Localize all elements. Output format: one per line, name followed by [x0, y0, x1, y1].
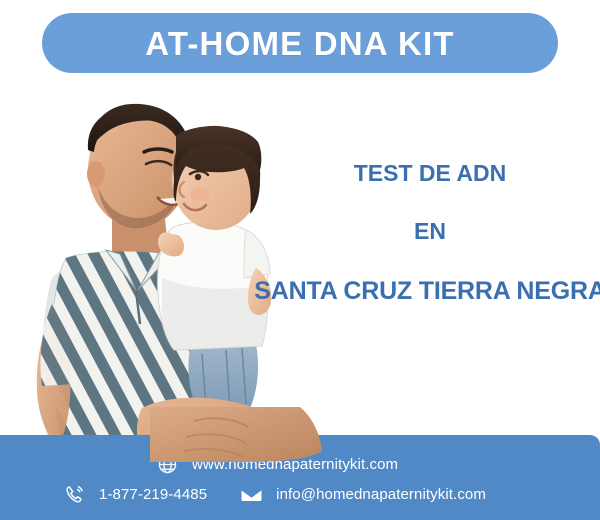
email-label: info@homednapaternitykit.com [276, 486, 486, 503]
phone-label: 1-877-219-4485 [99, 486, 207, 503]
contact-website[interactable]: www.homednapaternitykit.com [155, 452, 398, 476]
contact-phone[interactable]: 1-877-219-4485 [62, 482, 207, 506]
contact-email[interactable]: info@homednapaternitykit.com [239, 482, 486, 506]
header-band: AT-HOME DNA KIT [0, 0, 600, 88]
headline-line-3: SANTA CRUZ TIERRA NEGRA [250, 277, 600, 306]
headline-line-2: EN [250, 218, 600, 244]
poster-title: AT-HOME DNA KIT [145, 27, 454, 60]
footer-bar: www.homednapaternitykit.com 1-877-219-44… [0, 435, 600, 520]
footer-row-phone-email: 1-877-219-4485 info@homednapaternitykit.… [62, 482, 486, 506]
poster-canvas: AT-HOME DNA KIT [0, 0, 600, 520]
globe-icon [155, 452, 179, 476]
headline-line-1: TEST DE ADN [250, 160, 600, 186]
website-label: www.homednapaternitykit.com [192, 456, 398, 473]
title-pill: AT-HOME DNA KIT [42, 13, 558, 73]
envelope-icon [239, 482, 263, 506]
phone-icon [62, 482, 86, 506]
footer-row-website: www.homednapaternitykit.com [155, 452, 398, 476]
headline-block: TEST DE ADN EN SANTA CRUZ TIERRA NEGRA [250, 160, 600, 306]
